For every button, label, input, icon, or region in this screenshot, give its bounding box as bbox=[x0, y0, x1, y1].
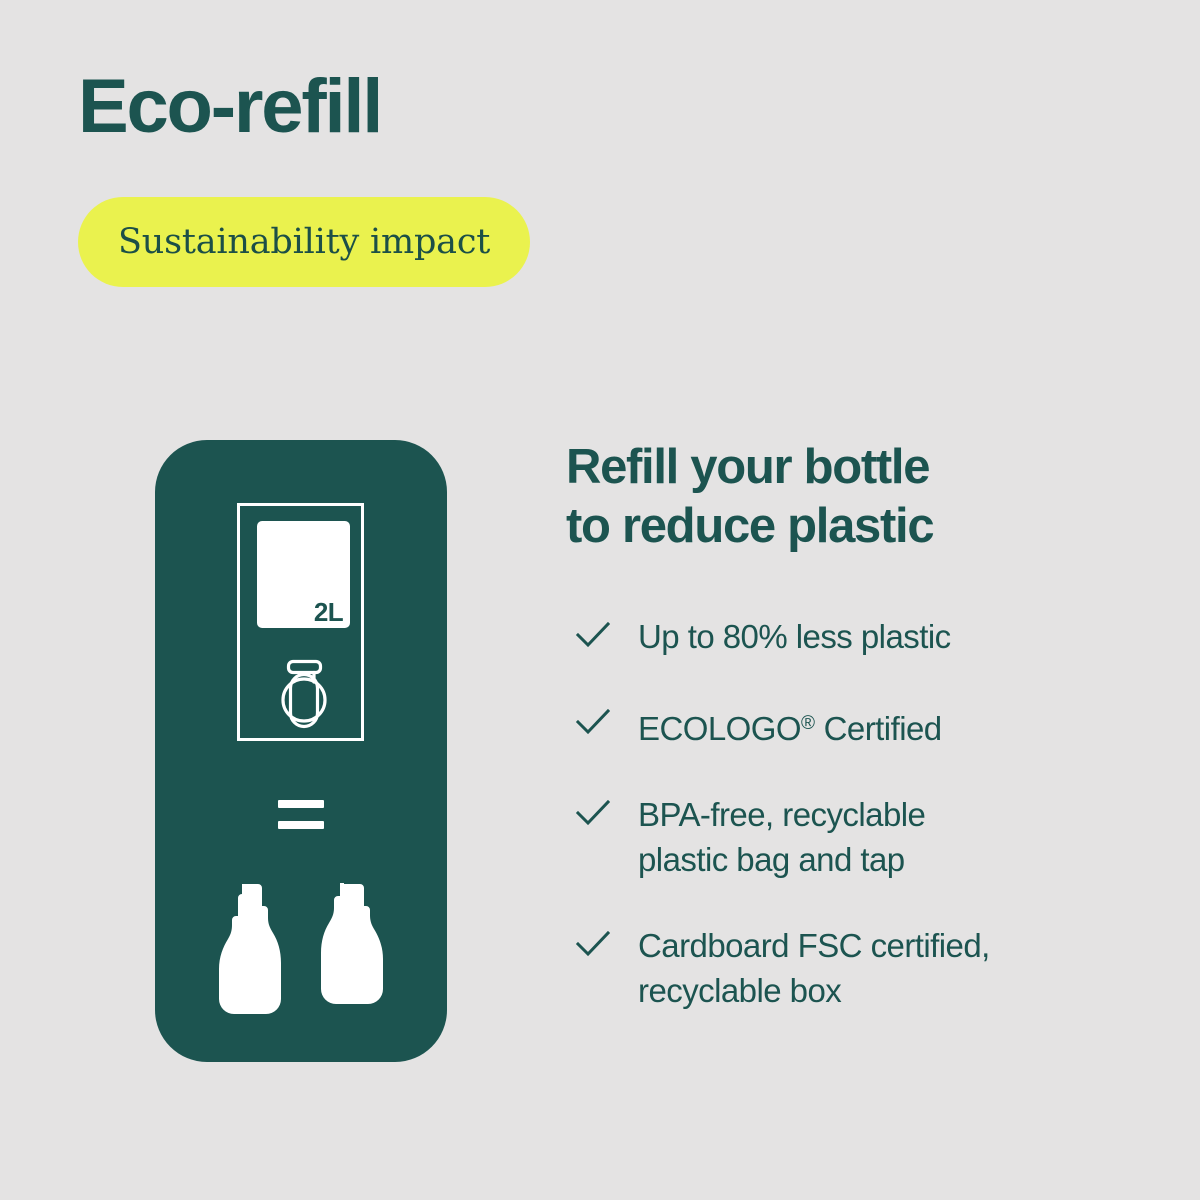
bottle-icon bbox=[317, 883, 389, 1018]
list-item: Up to 80% less plastic bbox=[566, 614, 1126, 660]
benefit-line: BPA-free, recyclable bbox=[638, 792, 1126, 837]
list-item-label: Up to 80% less plastic bbox=[638, 614, 1126, 659]
check-icon bbox=[576, 622, 610, 648]
list-item-label: ECOLOGO® Certified bbox=[638, 701, 1126, 751]
refill-pouch-frame: 2L bbox=[237, 503, 364, 741]
benefit-line: recyclable box bbox=[638, 968, 1126, 1013]
page-title: Eco-refill bbox=[78, 64, 381, 150]
benefit-line: Cardboard FSC certified, bbox=[638, 923, 1126, 968]
check-icon bbox=[576, 800, 610, 826]
status-badge-label: Sustainability impact bbox=[118, 223, 490, 261]
tap-icon bbox=[268, 654, 340, 730]
benefit-line: ECOLOGO bbox=[638, 710, 801, 747]
bottle-icon bbox=[213, 883, 285, 1018]
benefit-line: plastic bag and tap bbox=[638, 837, 1126, 882]
bottle-group bbox=[213, 878, 389, 1018]
benefits-list: Up to 80% less plastic ECOLOGO® Certifie… bbox=[566, 614, 1126, 1013]
eco-refill-infographic: Eco-refill Sustainability impact 2L bbox=[0, 0, 1200, 1200]
main-headline: Refill your bottle to reduce plastic bbox=[566, 438, 1086, 556]
refill-pouch-body: 2L bbox=[257, 521, 350, 628]
pouch-volume-label: 2L bbox=[314, 598, 343, 626]
product-illustration-card: 2L bbox=[155, 440, 447, 1062]
benefit-line: Up to 80% less plastic bbox=[638, 618, 951, 655]
headline-line-2: to reduce plastic bbox=[566, 497, 1086, 556]
equals-icon bbox=[278, 800, 324, 829]
list-item: BPA-free, recyclable plastic bag and tap bbox=[566, 792, 1126, 882]
list-item-label: Cardboard FSC certified, recyclable box bbox=[638, 923, 1126, 1013]
list-item-label: BPA-free, recyclable plastic bag and tap bbox=[638, 792, 1126, 882]
list-item: Cardboard FSC certified, recyclable box bbox=[566, 923, 1126, 1013]
benefit-line-suffix: Certified bbox=[815, 710, 942, 747]
status-badge: Sustainability impact bbox=[78, 197, 530, 287]
registered-trademark-symbol: ® bbox=[801, 713, 815, 734]
check-icon bbox=[576, 709, 610, 735]
headline-line-1: Refill your bottle bbox=[566, 438, 1086, 497]
list-item: ECOLOGO® Certified bbox=[566, 701, 1126, 751]
check-icon bbox=[576, 931, 610, 957]
